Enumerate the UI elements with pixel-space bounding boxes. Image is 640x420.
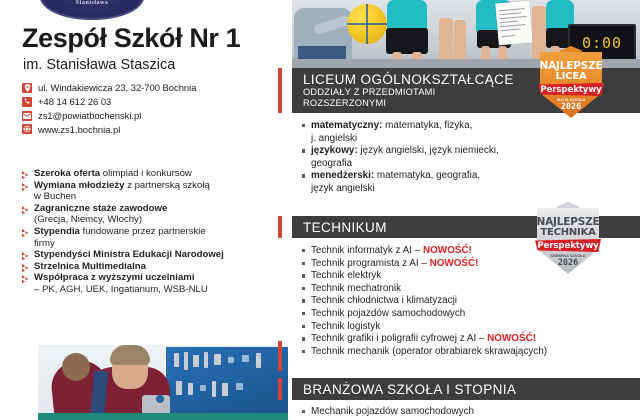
list-item-text: Zagraniczne staże zawodowe (Grecja, Niem… (34, 203, 167, 226)
feature-bold: Wymiana młodzieży (34, 180, 124, 191)
list-item-text: Technik pojazdów samochodowych (311, 308, 465, 321)
badge-line2: LICEA (536, 71, 606, 82)
feature-bold: Stypendyści Ministra Edukacji Narodowej (34, 249, 224, 260)
photo-floor (38, 413, 288, 420)
feature-rest: olimpiad i konkursów (100, 168, 192, 179)
chevron-bullet-icon (22, 180, 34, 191)
square-bullet-icon (302, 308, 311, 315)
right-column: 0:00 LICEUM OGÓLNOKSZTAŁCĄCE ODDZIAŁY Z … (288, 0, 640, 420)
page-title: Zespół Szkół Nr 1 (22, 24, 284, 52)
chevron-bullet-icon (22, 168, 34, 179)
course-name: Technik programista z AI – (311, 258, 430, 269)
square-bullet-icon (302, 258, 311, 265)
course-name: Mechanik pojazdów samochodowych (311, 406, 474, 417)
branzowa-list: Mechanik pojazdów samochodowych (302, 406, 632, 419)
feature-line2: firmy (34, 238, 55, 249)
square-bullet-icon (302, 120, 311, 127)
square-bullet-icon (302, 346, 311, 353)
badge-ribbon-text: Perspektywy (537, 241, 598, 251)
list-item-text: Współpraca z wyższymi uczelniami – PK, A… (34, 272, 208, 295)
feature-bold: Szeroka oferta (34, 168, 100, 179)
contact-text: ul. Windakiewicza 23, 32-700 Bochnia (38, 83, 196, 92)
feature-bold: Stypendia (34, 226, 80, 237)
contact-text: www.zs1.bochnia.pl (38, 125, 120, 134)
profile-subjects-line2: j. angielski (311, 133, 357, 144)
list-item: Strzelnica Multimedialna (22, 261, 288, 273)
list-item-text: Technik elektryk (311, 270, 381, 283)
course-name: Technik grafiki i poligrafii cyfrowej z … (311, 333, 487, 344)
list-item: Technik mechatronik (302, 283, 632, 296)
list-item: Mechanik pojazdów samochodowych (302, 406, 632, 419)
feature-bold: Współpraca z wyższymi uczelniami (34, 272, 194, 283)
chevron-bullet-icon (22, 261, 34, 272)
list-item-text: Wymiana młodzieży z partnerską szkołą w … (34, 180, 210, 203)
square-bullet-icon (302, 321, 311, 328)
profile-subjects-line2: geografia (311, 158, 352, 169)
course-name: Technik pojazdów samochodowych (311, 308, 465, 319)
crest-caption: Stanisława (40, 0, 144, 6)
school-crest-logo: Stanisława (40, 0, 144, 20)
photo-basketball (347, 4, 387, 44)
list-item-text: Stypendyści Ministra Edukacji Narodowej (34, 249, 224, 261)
course-name: Technik mechatronik (311, 283, 401, 294)
list-item: Stypendyści Ministra Edukacji Narodowej (22, 249, 288, 261)
feature-rest: z partnerską szkołą (124, 180, 209, 191)
list-item: matematyczny: matematyka, fizyka, j. ang… (302, 120, 602, 145)
list-item: Technik pojazdów samochodowych (302, 308, 632, 321)
list-item: językowy: język angielski, język niemiec… (302, 145, 602, 170)
list-item-text: Technik logistyk (311, 321, 380, 334)
badge-ribbon: Perspektywy (535, 239, 601, 252)
list-item: Stypendia fundowane przez partnerskie fi… (22, 226, 288, 249)
chevron-bullet-icon (22, 249, 34, 260)
features-list: Szeroka oferta olimpiad i konkursów Wymi… (22, 168, 288, 296)
square-bullet-icon (302, 333, 311, 340)
badge-ribbon: Perspektywy (538, 83, 604, 96)
new-badge: NOWOŚĆ! (487, 333, 536, 344)
badge-year: 2026 (533, 258, 603, 268)
contact-item-website: www.zs1.bochnia.pl (22, 123, 284, 135)
photo-toolboard (166, 347, 288, 413)
photo-hair (110, 345, 150, 365)
envelope-icon (22, 111, 32, 121)
square-bullet-icon (302, 283, 311, 290)
course-name: Technik informatyk z AI – (311, 245, 423, 256)
list-item-text: Technik grafiki i poligrafii cyfrowej z … (311, 333, 536, 346)
feature-bold: Strzelnica Multimedialna (34, 261, 146, 272)
contact-item-email: zs1@powiatbochenski.pl (22, 110, 284, 122)
profile-subjects: język angielski, język niemiecki, (358, 145, 499, 156)
flyer-page: Stanisława Zespół Szkół Nr 1 im. Stanisł… (0, 0, 640, 420)
list-item: Technik grafiki i poligrafii cyfrowej z … (302, 333, 632, 346)
profile-name: menedżerski: (311, 170, 374, 181)
profile-subjects: matematyka, geografia, (374, 170, 480, 181)
liceum-profile-list: matematyczny: matematyka, fizyka, j. ang… (302, 120, 602, 196)
section-header-branzowa: BRANŻOWA SZKOŁA I STOPNIA (292, 378, 640, 400)
badge-ribbon-text: Perspektywy (540, 85, 601, 95)
badge-year: 2026 (536, 102, 606, 112)
contact-text: +48 14 612 26 03 (38, 97, 111, 106)
list-item: Technik mechanik (operator obrabiarek sk… (302, 346, 632, 359)
accent-tab-technikum (278, 216, 282, 238)
course-name: Technik elektryk (311, 270, 381, 281)
photo-logo-patch (156, 395, 164, 403)
chevron-bullet-icon (22, 272, 34, 283)
square-bullet-icon (302, 145, 311, 152)
list-item-text: językowy: język angielski, język niemiec… (311, 145, 499, 170)
accent-tab-branzowa (278, 378, 282, 400)
list-item: Technik logistyk (302, 321, 632, 334)
list-item-text: Stypendia fundowane przez partnerskie fi… (34, 226, 206, 249)
square-bullet-icon (302, 406, 311, 413)
contact-text: zs1@powiatbochenski.pl (38, 111, 141, 120)
list-item: Wymiana młodzieży z partnerską szkołą w … (22, 180, 288, 203)
profile-name: językowy: (311, 145, 358, 156)
list-item-text: Szeroka oferta olimpiad i konkursów (34, 168, 192, 180)
profile-subjects: matematyka, fizyka, (382, 120, 472, 131)
feature-bold: Zagraniczne staże zawodowe (34, 203, 167, 214)
new-badge: NOWOŚĆ! (423, 245, 472, 256)
feature-rest: fundowane przez partnerskie (80, 226, 206, 237)
feature-line2: – PK, AGH, UEK, Ingatianum, WSB-NLU (34, 284, 208, 295)
list-item-text: matematyczny: matematyka, fizyka, j. ang… (311, 120, 472, 145)
square-bullet-icon (302, 270, 311, 277)
badge-line2: TECHNIKA (533, 227, 603, 238)
photo-certificate (495, 1, 533, 46)
list-item: Technik chłodnictwa i klimatyzacji (302, 295, 632, 308)
list-item-text: Technik programista z AI – NOWOŚĆ! (311, 258, 478, 271)
accent-bar-bottom (278, 341, 282, 371)
profile-name: matematyczny: (311, 120, 382, 131)
course-name: Technik chłodnictwa i klimatyzacji (311, 295, 457, 306)
list-item: Zagraniczne staże zawodowe (Grecja, Niem… (22, 203, 288, 226)
feature-line2: w Buchen (34, 191, 76, 202)
phone-icon (22, 97, 32, 107)
photo-player (435, 0, 469, 62)
list-item: menedżerski: matematyka, geografia, języ… (302, 170, 602, 195)
square-bullet-icon (302, 170, 311, 177)
left-column: Stanisława Zespół Szkół Nr 1 im. Stanisł… (0, 0, 288, 420)
contact-list: ul. Windakiewicza 23, 32-700 Bochnia +48… (22, 82, 284, 137)
accent-tab-liceum (278, 68, 282, 113)
course-name: Technik logistyk (311, 321, 380, 332)
list-item-text: Strzelnica Multimedialna (34, 261, 146, 273)
technikum-badge: NAJLEPSZE TECHNIKA Perspektywy SREBRNA S… (533, 200, 603, 278)
new-badge: NOWOŚĆ! (430, 258, 479, 269)
globe-icon (22, 124, 32, 134)
list-item-text: Mechanik pojazdów samochodowych (311, 406, 474, 419)
list-item: Szeroka oferta olimpiad i konkursów (22, 168, 288, 180)
section-title: BRANŻOWA SZKOŁA I STOPNIA (292, 382, 640, 397)
list-item-text: Technik chłodnictwa i klimatyzacji (311, 295, 457, 308)
list-item-text: Technik mechanik (operator obrabiarek sk… (311, 346, 547, 359)
location-pin-icon (22, 83, 32, 93)
course-name: Technik mechanik (operator obrabiarek sk… (311, 346, 547, 357)
square-bullet-icon (302, 245, 311, 252)
automotive-workshop-photo (38, 345, 288, 420)
list-item: Współpraca z wyższymi uczelniami – PK, A… (22, 272, 288, 295)
square-bullet-icon (302, 295, 311, 302)
liceum-badge: NAJLEPSZE LICEA Perspektywy ZŁOTA SZKOŁA… (536, 44, 606, 122)
chevron-bullet-icon (22, 203, 34, 214)
list-item-text: Technik mechatronik (311, 283, 401, 296)
photo-head (62, 353, 90, 381)
chevron-bullet-icon (22, 226, 34, 237)
list-item-text: menedżerski: matematyka, geografia, języ… (311, 170, 480, 195)
page-subtitle: im. Stanisława Staszica (23, 58, 285, 74)
contact-item-phone: +48 14 612 26 03 (22, 96, 284, 108)
contact-item-address: ul. Windakiewicza 23, 32-700 Bochnia (22, 82, 284, 94)
feature-line2: (Grecja, Niemcy, Włochy) (34, 214, 142, 225)
profile-subjects-line2: język angielski (311, 183, 375, 194)
list-item-text: Technik informatyk z AI – NOWOŚĆ! (311, 245, 472, 258)
photo-player (384, 0, 430, 62)
